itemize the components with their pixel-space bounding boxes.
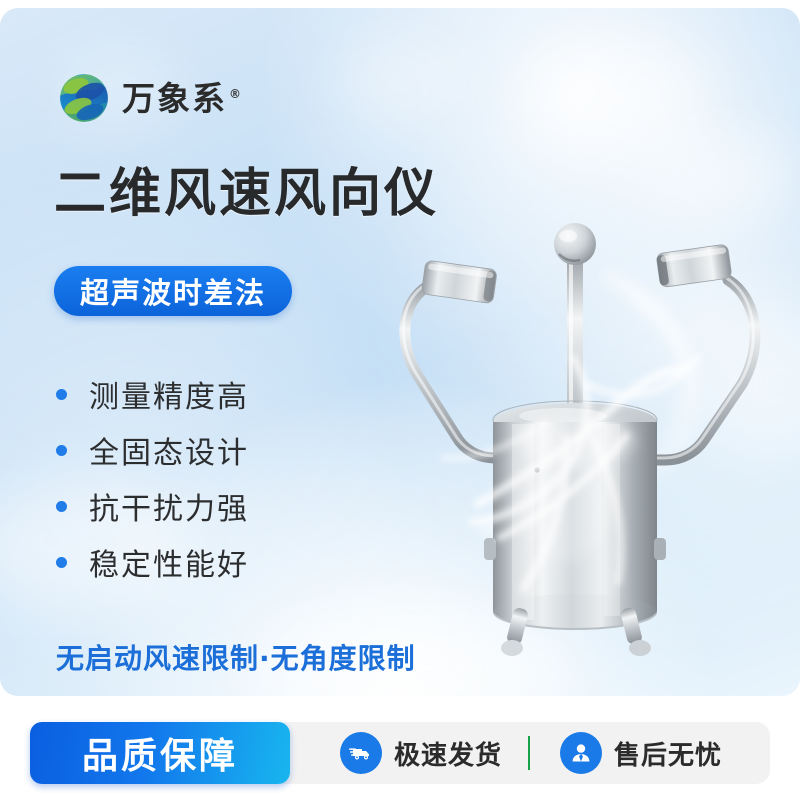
service-after-sales: 售后无忧 [560, 732, 722, 774]
delivery-truck-icon [340, 732, 382, 774]
feature-list: 测量精度高 全固态设计 抗干扰力强 稳定性能好 [56, 366, 249, 590]
service-fast-shipping: 极速发货 [340, 732, 502, 774]
feature-label: 全固态设计 [89, 428, 249, 472]
product-marketing-image: 万象系® 二维风速风向仪 超声波时差法 测量精度高 全固态设计 抗干扰力强 稳定 [0, 0, 800, 800]
trust-bar: 品质保障 极速发货 [30, 722, 770, 784]
brand-name-text: 万象系 [122, 79, 227, 118]
quality-badge: 品质保障 [30, 722, 290, 784]
cloud-blob [520, 38, 710, 158]
registered-mark: ® [229, 87, 243, 101]
method-badge: 超声波时差法 [54, 266, 292, 316]
cloud-blob [330, 38, 470, 128]
brand-name: 万象系® [122, 82, 243, 115]
brand-logo: 万象系® [56, 70, 243, 126]
list-item: 稳定性能好 [56, 534, 249, 590]
bullet-dot-icon [56, 389, 67, 400]
list-item: 全固态设计 [56, 422, 249, 478]
list-item: 抗干扰力强 [56, 478, 249, 534]
hero-card: 万象系® 二维风速风向仪 超声波时差法 测量精度高 全固态设计 抗干扰力强 稳定 [0, 8, 800, 696]
feature-label: 稳定性能好 [89, 540, 249, 584]
bullet-dot-icon [56, 501, 67, 512]
feature-label: 测量精度高 [89, 372, 249, 416]
product-photo [360, 208, 790, 678]
globe-swirl-logo-icon [56, 70, 112, 126]
list-item: 测量精度高 [56, 366, 249, 422]
quality-badge-label: 品质保障 [82, 727, 238, 779]
bullet-dot-icon [56, 445, 67, 456]
service-label: 售后无忧 [614, 735, 722, 772]
divider [528, 736, 530, 770]
service-label: 极速发货 [394, 735, 502, 772]
customer-service-person-icon [560, 732, 602, 774]
feature-label: 抗干扰力强 [89, 484, 249, 528]
bullet-dot-icon [56, 557, 67, 568]
